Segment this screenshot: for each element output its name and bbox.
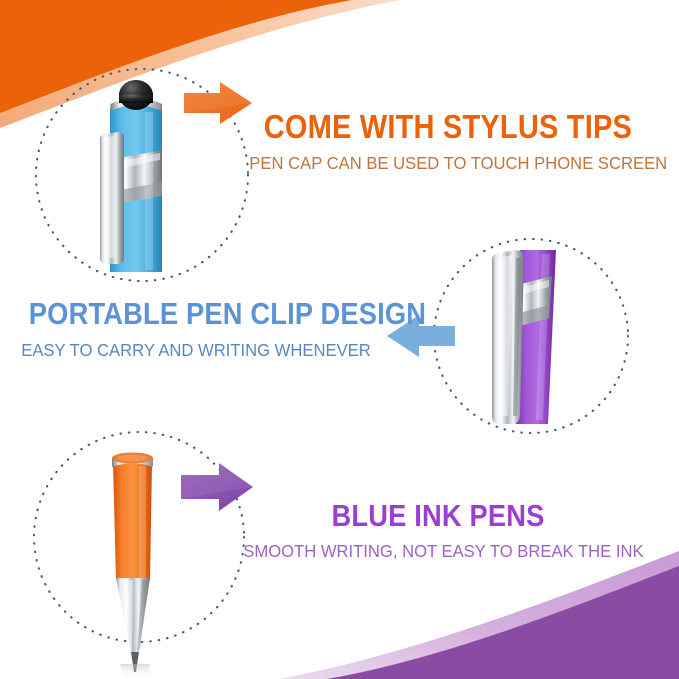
infographic-canvas: COME WITH STYLUS TIPS PEN CAP CAN BE USE…	[0, 0, 679, 679]
section-1-subtitle: PEN CAP CAN BE USED TO TOUCH PHONE SCREE…	[249, 154, 640, 173]
purple-pen-clip-photo	[492, 250, 556, 424]
section-1-artwork	[36, 69, 252, 281]
section-2-artwork	[387, 239, 628, 433]
section-3-title: BLUE INK PENS	[258, 500, 619, 532]
section-3-subtitle: SMOOTH WRITING, NOT EASY TO BREAK THE IN…	[243, 542, 633, 561]
section-3-artwork	[34, 432, 253, 679]
section-3-text-block: BLUE INK PENS SMOOTH WRITING, NOT EASY T…	[233, 500, 643, 561]
section-1-title: COME WITH STYLUS TIPS	[264, 110, 627, 144]
blue-stylus-pen-photo	[100, 80, 162, 272]
section-1-text-block: COME WITH STYLUS TIPS PEN CAP CAN BE USE…	[239, 110, 651, 173]
section-2-subtitle: EASY TO CARRY AND WRITING WHENEVER	[16, 341, 377, 360]
section-2-title: PORTABLE PEN CLIP DESIGN	[29, 298, 363, 330]
orange-pen-nib-photo	[112, 453, 153, 679]
section-2-text-block: PORTABLE PEN CLIP DESIGN EASY TO CARRY A…	[6, 298, 386, 360]
